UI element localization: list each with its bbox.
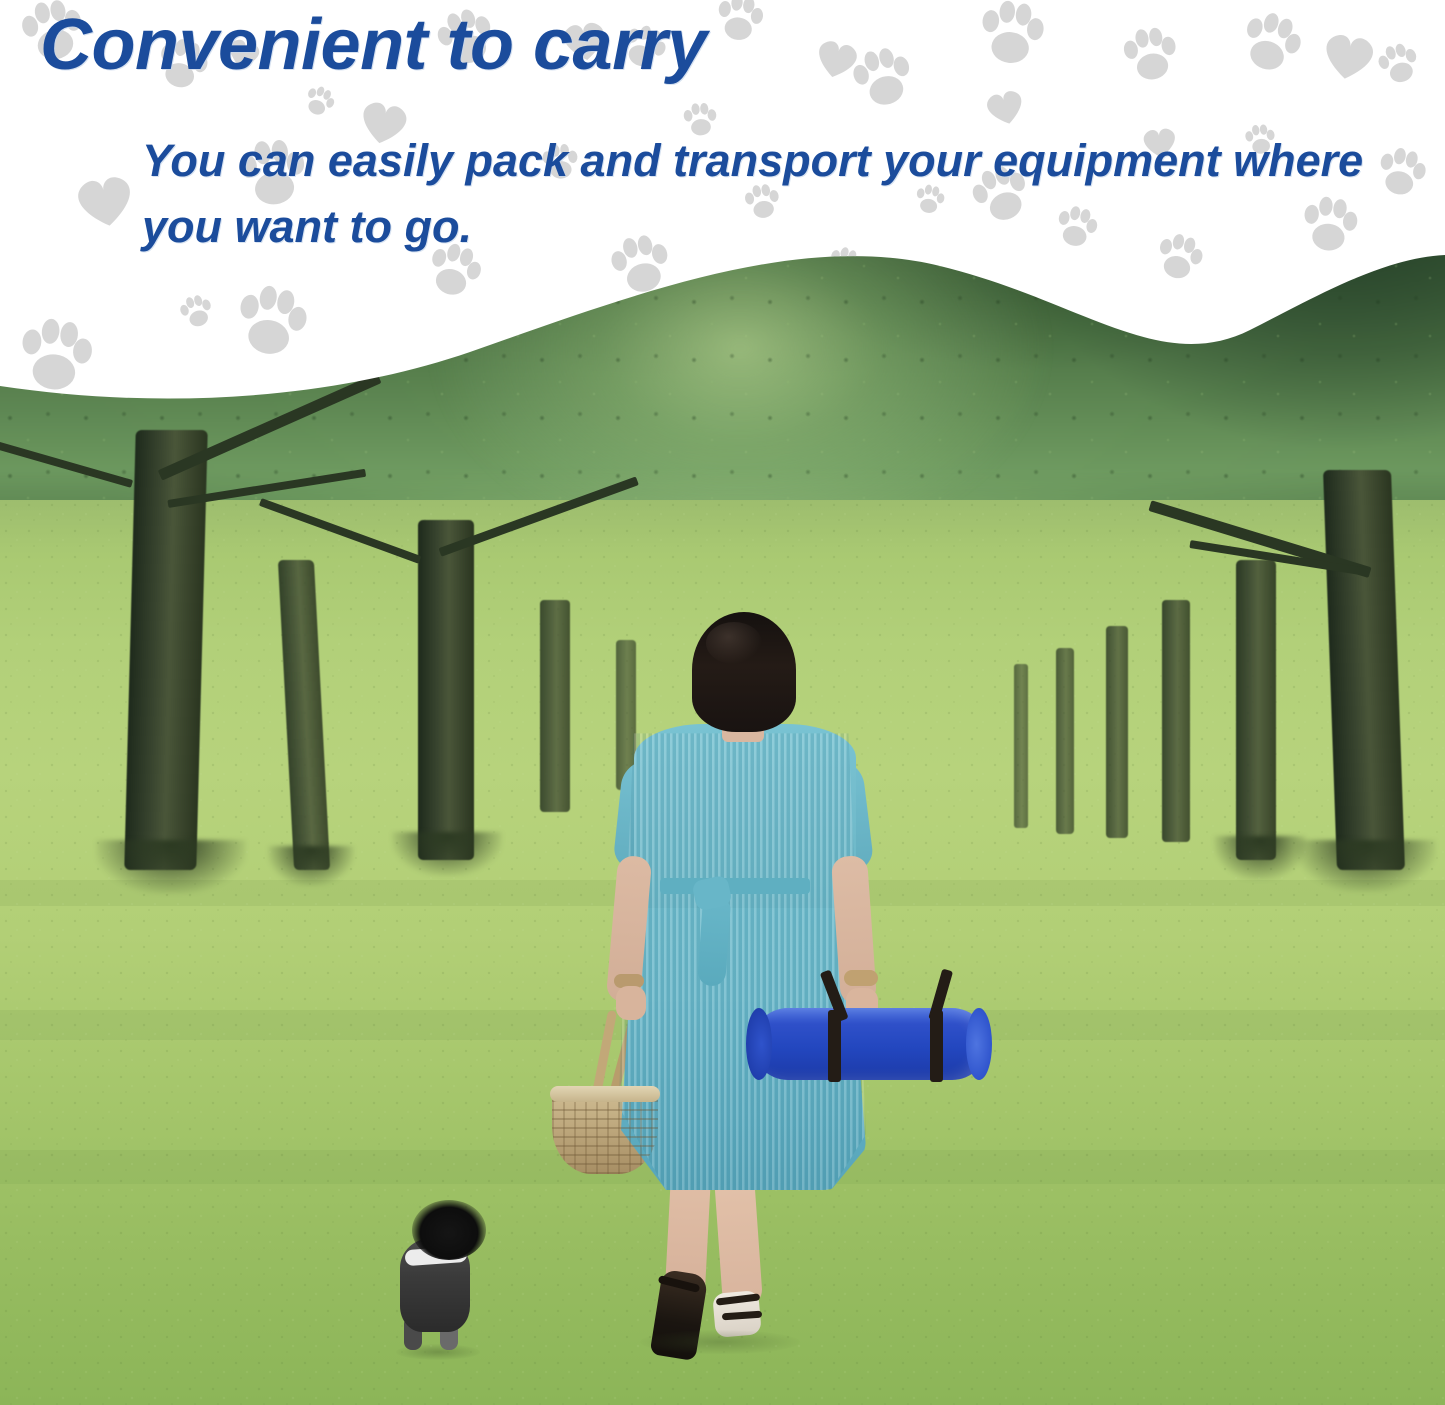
dress-belt — [660, 878, 810, 894]
dog-tail — [412, 1200, 486, 1260]
tree-trunk — [1162, 600, 1190, 842]
yoga-mat-end-right — [966, 1008, 992, 1080]
hair-highlight — [706, 622, 762, 664]
tree-trunk — [1056, 648, 1074, 834]
tree-base — [1214, 836, 1306, 880]
tree-base — [268, 846, 354, 886]
tree-base — [96, 840, 246, 894]
tree-trunk — [1236, 560, 1276, 860]
basket-rim — [550, 1086, 660, 1102]
product-feature-card: Convenient to carry You can easily pack … — [0, 0, 1445, 1405]
yoga-mat-end-left — [746, 1008, 772, 1080]
tree-trunk — [418, 520, 474, 860]
tree-trunk — [1323, 470, 1405, 870]
tree-trunk — [1106, 626, 1128, 838]
page-subtitle: You can easily pack and transport your e… — [142, 128, 1372, 260]
bracelet-right — [844, 970, 878, 986]
basket-weave-texture — [552, 1092, 658, 1174]
tree-base — [1296, 840, 1436, 892]
mat-strap-band — [828, 1010, 841, 1082]
hand-left — [616, 986, 646, 1020]
tree-trunk — [540, 600, 570, 812]
page-title: Convenient to carry — [40, 4, 707, 86]
yoga-mat — [752, 1008, 988, 1080]
tree-trunk — [1014, 664, 1028, 828]
woman-shadow — [640, 1330, 800, 1354]
tree-base — [392, 832, 502, 876]
mat-strap-band — [930, 1010, 943, 1082]
